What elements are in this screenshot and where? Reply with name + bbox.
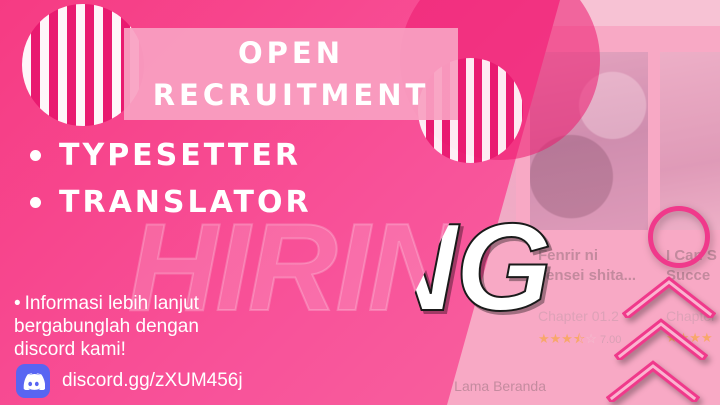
- bullet-dot-icon: [30, 150, 41, 161]
- role-label: TRANSLATOR: [59, 185, 312, 220]
- discord-url-text[interactable]: discord.gg/zXUM456j: [62, 370, 243, 392]
- headline-recruitment: RECRUITMENT: [124, 78, 458, 112]
- info-paragraph: •Informasi lebih lanjut bergabunglah den…: [14, 292, 264, 361]
- bullet-dot-icon: •: [14, 292, 21, 315]
- list-item: TYPESETTER: [30, 138, 312, 173]
- discord-link[interactable]: discord.gg/zXUM456j: [16, 364, 243, 398]
- circle-outline-decoration: [648, 206, 710, 268]
- recruitment-poster-screenshot: Project 1 Houkago Kitaku Biyori ★★★★★ Sh…: [0, 0, 720, 405]
- role-label: TYPESETTER: [59, 138, 301, 173]
- headline-open: OPEN: [124, 36, 458, 70]
- roles-list: TYPESETTER TRANSLATOR: [30, 138, 312, 232]
- bullet-dot-icon: [30, 197, 41, 208]
- info-text: Informasi lebih lanjut bergabunglah deng…: [14, 293, 199, 360]
- discord-icon: [16, 364, 50, 398]
- list-item: TRANSLATOR: [30, 185, 312, 220]
